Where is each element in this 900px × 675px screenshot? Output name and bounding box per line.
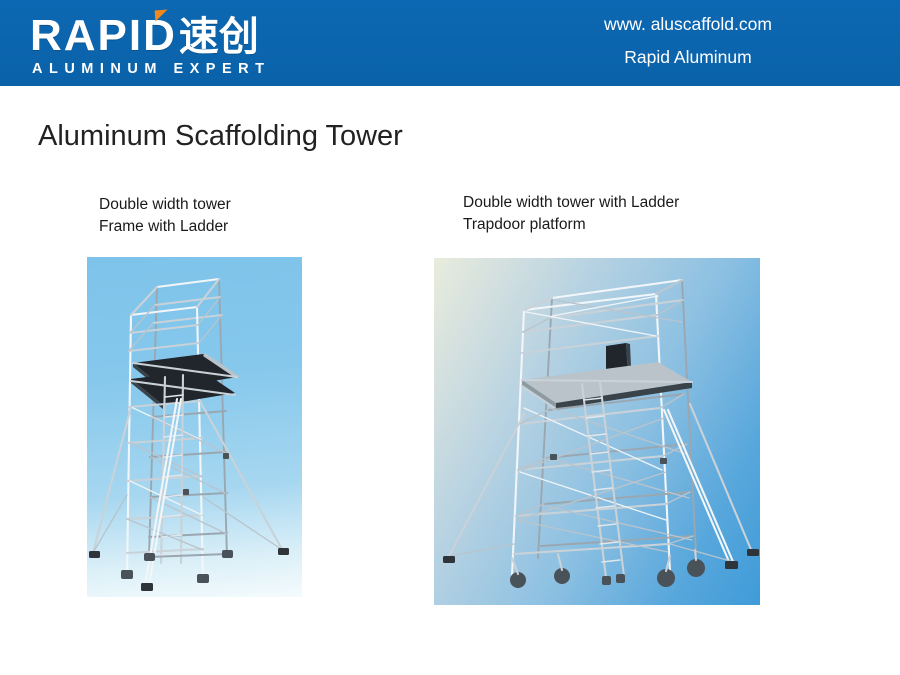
logo-wordmark: RAPID速创 xyxy=(30,14,259,59)
header-website[interactable]: www. aluscaffold.com xyxy=(528,8,848,41)
logo-tagline: ALUMINUM EXPERT xyxy=(32,61,270,77)
brand-logo[interactable]: RAPID速创 ALUMINUM EXPERT xyxy=(30,8,320,80)
logo-cjk-text: 速创 xyxy=(179,14,259,60)
scaffold-tower-trapdoor-platform-illustration xyxy=(434,258,760,605)
header-contact-block: www. aluscaffold.com Rapid Aluminum xyxy=(528,8,848,74)
product-image-right[interactable] xyxy=(434,258,760,605)
header-divider-rule xyxy=(0,86,900,89)
product-caption-right: Double width tower with Ladder Trapdoor … xyxy=(463,192,679,236)
product-image-left[interactable] xyxy=(87,257,302,597)
product-caption-left: Double width tower Frame with Ladder xyxy=(99,194,231,238)
page-title: Aluminum Scaffolding Tower xyxy=(38,119,403,153)
header-company-name: Rapid Aluminum xyxy=(528,41,848,74)
logo-spark-icon xyxy=(155,10,169,22)
scaffold-tower-ladder-frame-illustration xyxy=(87,257,302,597)
